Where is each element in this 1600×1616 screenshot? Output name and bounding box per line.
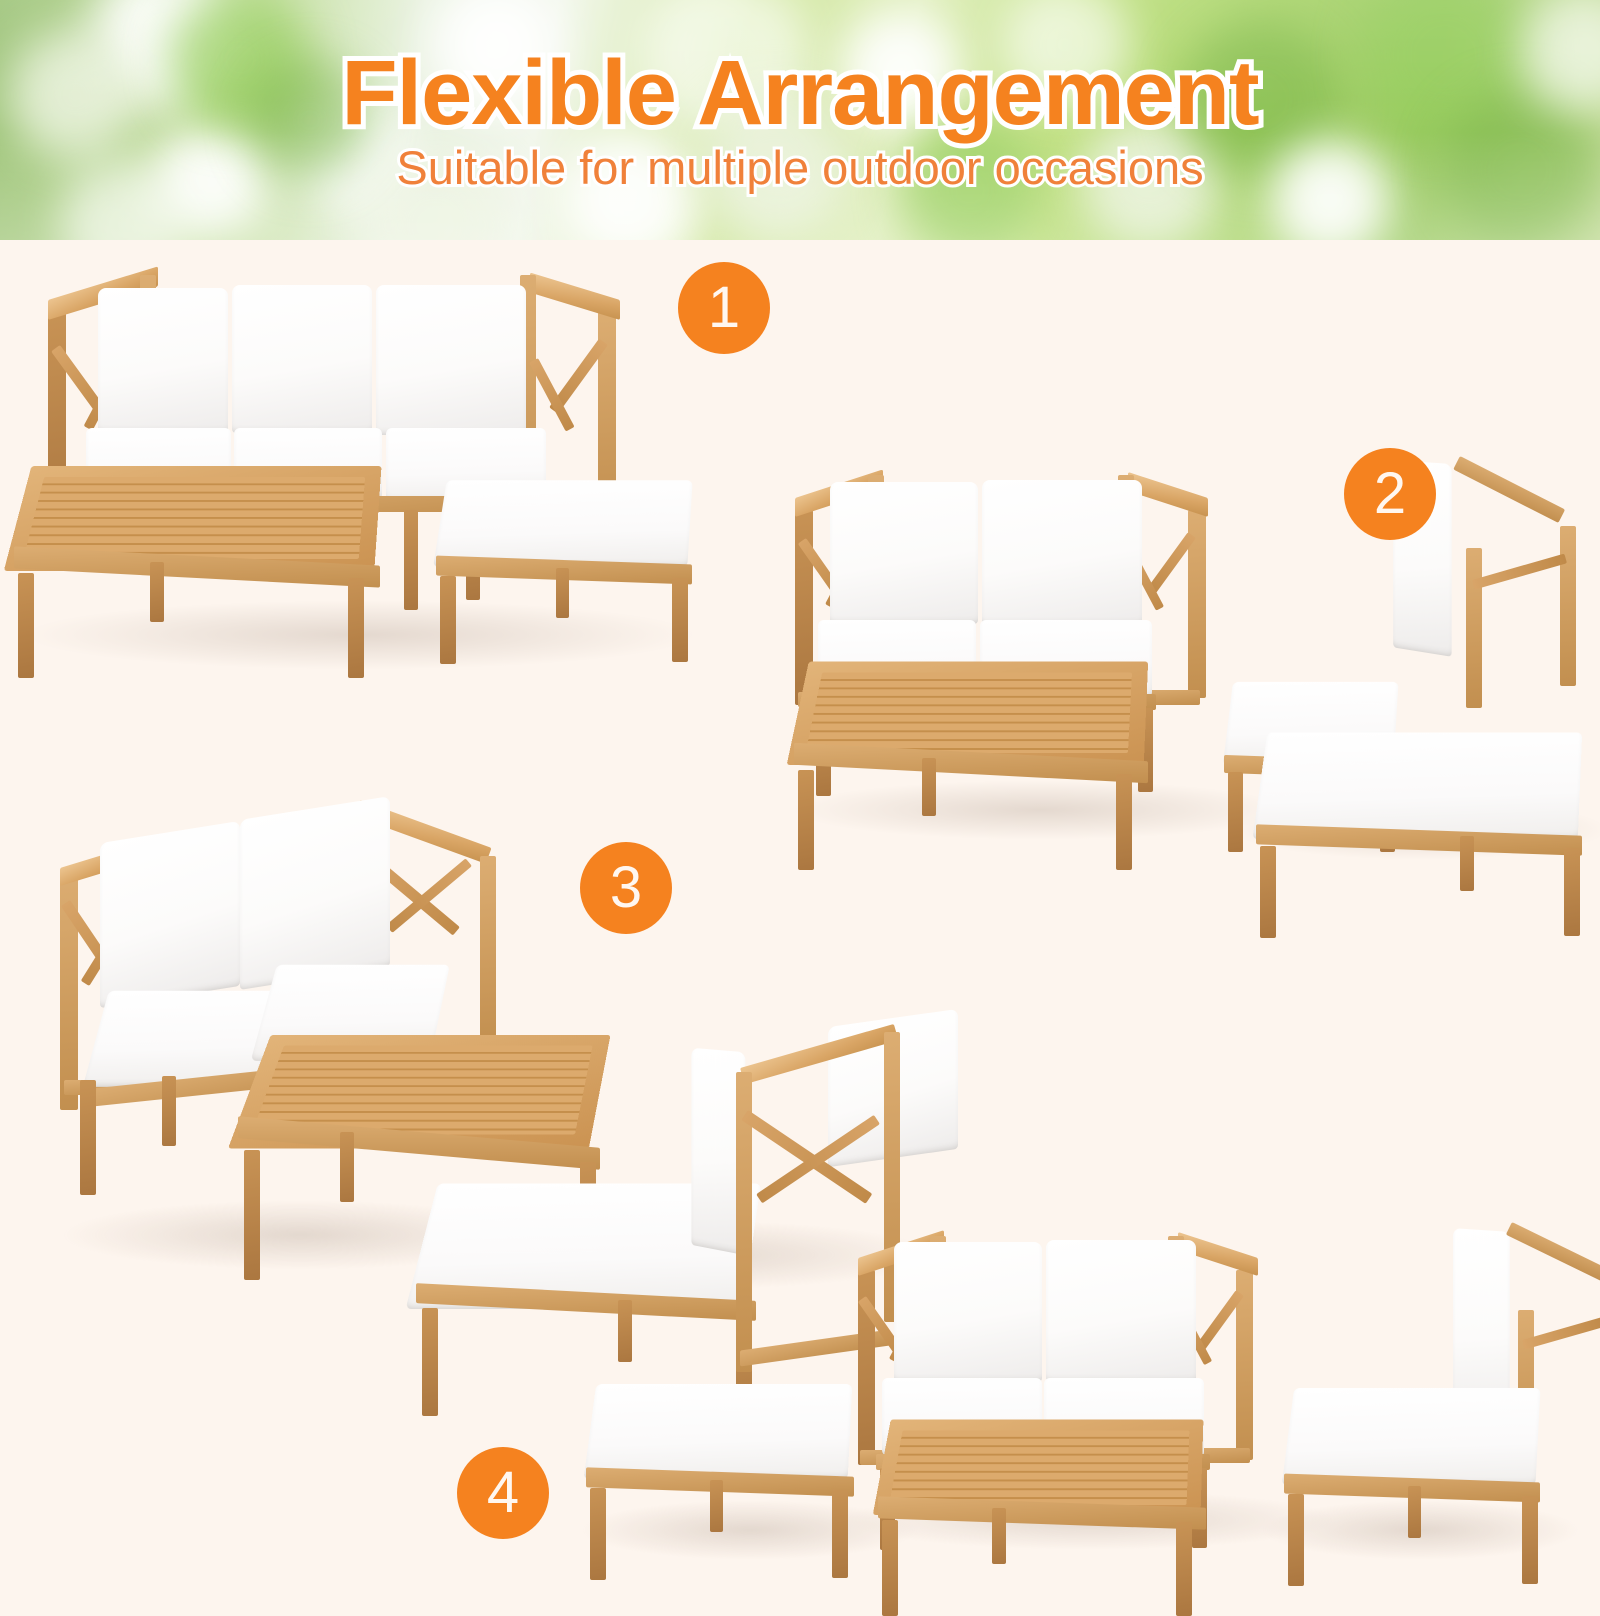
badge-3: 3 — [580, 842, 672, 934]
arrangement-4 — [560, 1200, 1600, 1600]
badge-1: 1 — [678, 262, 770, 354]
badge-4-label: 4 — [487, 1464, 519, 1522]
badge-2-label: 2 — [1374, 465, 1406, 523]
badge-3-label: 3 — [610, 859, 642, 917]
badge-4: 4 — [457, 1447, 549, 1539]
banner-subtitle: Suitable for multiple outdoor occasions — [396, 143, 1203, 192]
badge-1-label: 1 — [708, 279, 740, 337]
badge-2: 2 — [1344, 448, 1436, 540]
arrangements-stage: 1 — [0, 240, 1600, 1600]
header-banner: Flexible Arrangement Suitable for multip… — [0, 0, 1600, 240]
banner-title: Flexible Arrangement — [341, 47, 1258, 139]
arrangement-1 — [0, 240, 780, 670]
